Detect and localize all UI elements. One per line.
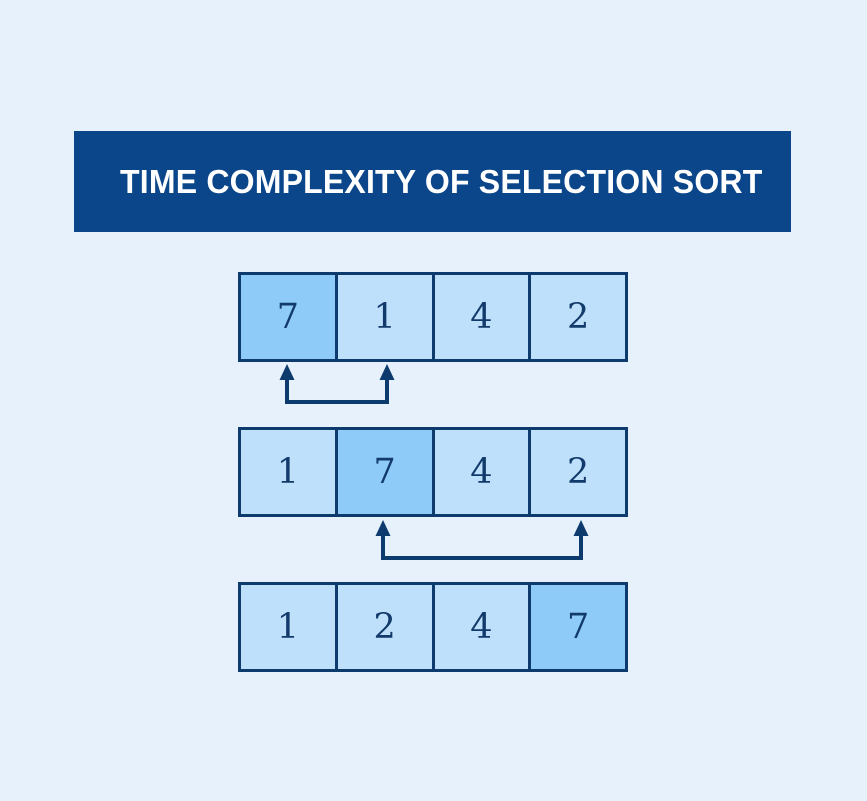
array-cell: 7 [528, 582, 628, 672]
swap-arrow-icon [276, 364, 398, 408]
array-cell: 2 [335, 582, 435, 672]
array-cell-value: 2 [567, 300, 589, 335]
array-cell: 1 [335, 272, 435, 362]
array-cell: 7 [238, 272, 338, 362]
array-row: 7 1 4 2 [238, 272, 628, 362]
array-cell-value: 4 [470, 455, 492, 490]
array-cell-value: 7 [373, 455, 395, 490]
array-cell-value: 1 [373, 300, 395, 335]
array-cell-value: 1 [277, 455, 299, 490]
array-cell: 1 [238, 427, 338, 517]
array-cell-value: 7 [567, 610, 589, 645]
swap-arrow-icon [372, 520, 592, 564]
array-cell: 4 [432, 427, 532, 517]
array-cell-value: 4 [470, 610, 492, 645]
array-row: 1 2 4 7 [238, 582, 628, 672]
array-cell-value: 2 [373, 610, 395, 645]
array-cell: 2 [528, 272, 628, 362]
array-cell: 1 [238, 582, 338, 672]
array-cell: 4 [432, 582, 532, 672]
array-cell: 7 [335, 427, 435, 517]
array-cell-value: 7 [277, 300, 299, 335]
array-cell-value: 2 [567, 455, 589, 490]
array-row: 1 7 4 2 [238, 427, 628, 517]
array-cell: 2 [528, 427, 628, 517]
diagram-canvas: TIME COMPLEXITY OF SELECTION SORT 7 1 4 … [0, 0, 867, 801]
title-banner: TIME COMPLEXITY OF SELECTION SORT [74, 131, 791, 232]
array-cell: 4 [432, 272, 532, 362]
array-cell-value: 1 [277, 610, 299, 645]
page-title: TIME COMPLEXITY OF SELECTION SORT [120, 163, 763, 201]
array-cell-value: 4 [470, 300, 492, 335]
